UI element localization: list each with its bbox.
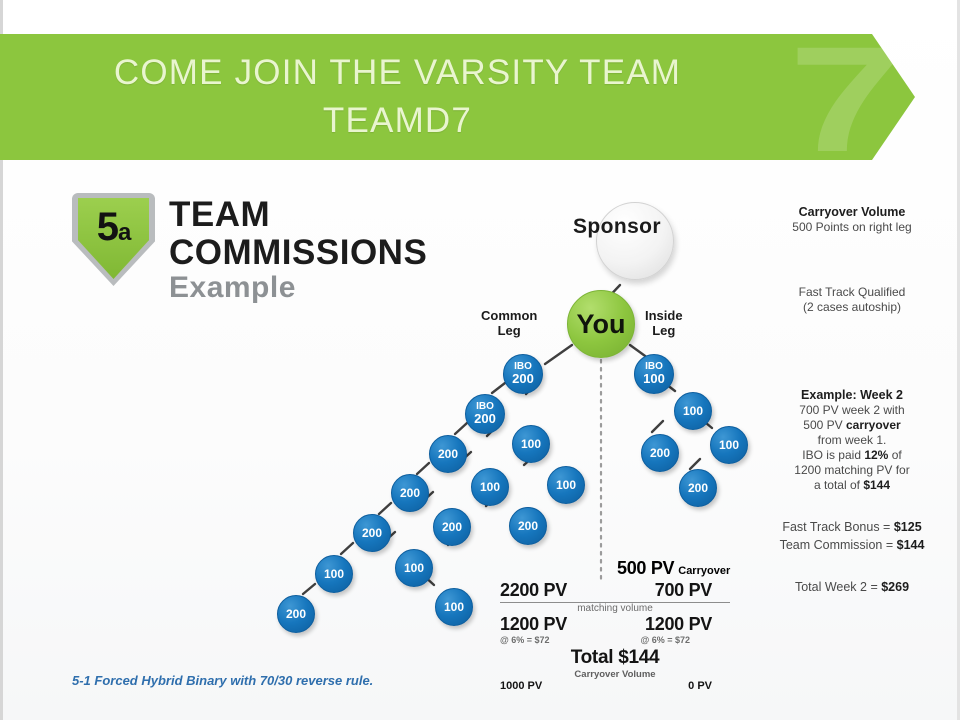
tree-node-left-9[interactable]: 100 bbox=[395, 549, 433, 587]
example-week2-line6: a total of $144 bbox=[752, 478, 952, 493]
tree-node-left-11[interactable]: 200 bbox=[509, 507, 547, 545]
tree-node-left-8[interactable]: 200 bbox=[433, 508, 471, 546]
right-leg-pv: 700 PV bbox=[655, 580, 712, 601]
slide-canvas: 7 COME JOIN THE VARSITY TEAM TEAMD7 5a T… bbox=[0, 0, 960, 720]
calc-carryover-right: 0 PV bbox=[688, 680, 712, 692]
fast-track-bonus-row: Fast Track Bonus = $125 bbox=[752, 518, 952, 536]
total-week2-value: $269 bbox=[881, 580, 909, 594]
tree-node-right-2[interactable]: 100 bbox=[710, 426, 748, 464]
shield-badge-icon: 5a bbox=[72, 193, 155, 286]
fast-track-bonus-value: $125 bbox=[894, 520, 922, 534]
team-commission-value: $144 bbox=[897, 538, 925, 552]
left-rate: @ 6% = $72 bbox=[500, 635, 550, 645]
tree-node-right-0[interactable]: IBO100 bbox=[634, 354, 674, 394]
example-week2-line4-b: 12% bbox=[864, 448, 888, 462]
tree-node-value: 200 bbox=[474, 412, 496, 425]
example-week2-line4: IBO is paid 12% of bbox=[752, 448, 952, 463]
tree-node-right-1[interactable]: 100 bbox=[674, 392, 712, 430]
total-week2-label: Total Week 2 = bbox=[795, 580, 881, 594]
tree-node-left-6[interactable]: 200 bbox=[277, 595, 315, 633]
matching-pv-row: 1200 PV 1200 PV bbox=[500, 614, 730, 635]
header-banner: 7 COME JOIN THE VARSITY TEAM TEAMD7 bbox=[0, 34, 915, 160]
example-week2-line3: from week 1. bbox=[752, 433, 952, 448]
shield-badge-letter: a bbox=[118, 219, 130, 246]
tree-node-value: 200 bbox=[442, 521, 462, 533]
example-week2-line4-a: IBO is paid bbox=[802, 448, 864, 462]
tree-node-right-3[interactable]: 200 bbox=[641, 434, 679, 472]
common-leg-label: Common Leg bbox=[481, 308, 537, 338]
tree-node-value: 200 bbox=[518, 520, 538, 532]
calc-carryover-row: 1000 PV 0 PV bbox=[500, 680, 730, 692]
left-leg-pv: 2200 PV bbox=[500, 580, 567, 601]
tree-node-left-5[interactable]: 100 bbox=[315, 555, 353, 593]
banner-headline-line1: COME JOIN THE VARSITY TEAM bbox=[114, 49, 681, 97]
tree-node-value: 100 bbox=[444, 601, 464, 613]
title-line-commissions: COMMISSIONS bbox=[169, 235, 427, 270]
title-block: 5a TEAM COMMISSIONS Example bbox=[72, 193, 427, 304]
example-week2-line4-c: of bbox=[888, 448, 901, 462]
team-commission-label: Team Commission = bbox=[780, 538, 897, 552]
tree-node-left-12[interactable]: 100 bbox=[547, 466, 585, 504]
tree-node-left-0[interactable]: IBO200 bbox=[503, 354, 543, 394]
tree-node-value: 100 bbox=[556, 479, 576, 491]
calc-total: Total $144 bbox=[500, 647, 730, 669]
title-line-team: TEAM bbox=[169, 197, 427, 232]
node-sponsor[interactable] bbox=[596, 202, 674, 280]
title-line-example: Example bbox=[169, 272, 427, 304]
example-week2-line6-b: $144 bbox=[863, 478, 890, 492]
inside-leg-label-line2: Leg bbox=[645, 323, 683, 338]
inside-leg-label-line1: Inside bbox=[645, 308, 683, 323]
title-text-group: TEAM COMMISSIONS Example bbox=[169, 193, 427, 304]
example-week2-line2: 500 PV carryover bbox=[752, 418, 952, 433]
example-week2-line5: 1200 matching PV for bbox=[752, 463, 952, 478]
example-week2-line2-a: 500 PV bbox=[803, 418, 846, 432]
example-week2-line2-b: carryover bbox=[846, 418, 901, 432]
left-matching-pv: 1200 PV bbox=[500, 614, 567, 635]
matching-volume-note: matching volume bbox=[500, 603, 730, 614]
tree-node-value: 200 bbox=[650, 447, 670, 459]
tree-node-left-1[interactable]: IBO200 bbox=[465, 394, 505, 434]
banner-seven-watermark: 7 bbox=[788, 36, 893, 160]
tree-node-right-4[interactable]: 200 bbox=[679, 469, 717, 507]
node-you[interactable]: You bbox=[567, 290, 635, 358]
inside-leg-label: Inside Leg bbox=[645, 308, 683, 338]
tree-node-left-10[interactable]: 100 bbox=[435, 588, 473, 626]
fast-track-qualified-line2: (2 cases autoship) bbox=[752, 300, 952, 315]
calc-carryover-volume-label: Carryover Volume bbox=[500, 669, 730, 680]
common-leg-label-line1: Common bbox=[481, 308, 537, 323]
tree-node-value: 200 bbox=[512, 372, 534, 385]
total-week2-block: Total Week 2 = $269 bbox=[752, 580, 952, 595]
tree-node-value: 100 bbox=[719, 439, 739, 451]
tree-node-left-13[interactable]: 100 bbox=[512, 425, 550, 463]
footer-note: 5-1 Forced Hybrid Binary with 70/30 reve… bbox=[72, 673, 373, 688]
tree-node-value: 100 bbox=[404, 562, 424, 574]
tree-node-left-4[interactable]: 200 bbox=[353, 514, 391, 552]
example-week2-block: Example: Week 2 700 PV week 2 with 500 P… bbox=[752, 388, 952, 493]
shield-badge-label: 5a bbox=[97, 207, 131, 253]
tree-node-value: 100 bbox=[643, 372, 665, 385]
tree-node-value: 200 bbox=[400, 487, 420, 499]
shield-badge-number: 5 bbox=[97, 205, 118, 249]
tree-node-value: 200 bbox=[438, 448, 458, 460]
example-week2-title: Example: Week 2 bbox=[752, 388, 952, 403]
fast-track-qualified-line1: Fast Track Qualified bbox=[752, 285, 952, 300]
tree-node-value: 200 bbox=[286, 608, 306, 620]
carryover-volume-sub: 500 Points on right leg bbox=[752, 220, 952, 235]
tree-node-value: 200 bbox=[362, 527, 382, 539]
tree-node-value: 200 bbox=[688, 482, 708, 494]
fast-track-qualified-block: Fast Track Qualified (2 cases autoship) bbox=[752, 285, 952, 315]
carryover-volume-block: Carryover Volume 500 Points on right leg bbox=[752, 205, 952, 235]
rate-row: @ 6% = $72 @ 6% = $72 bbox=[500, 635, 730, 645]
tree-node-value: 100 bbox=[480, 481, 500, 493]
team-commission-row: Team Commission = $144 bbox=[752, 536, 952, 554]
bonus-summary-block: Fast Track Bonus = $125 Team Commission … bbox=[752, 518, 952, 554]
sponsor-label: Sponsor bbox=[573, 215, 661, 239]
tree-node-left-7[interactable]: 100 bbox=[471, 468, 509, 506]
tree-node-left-2[interactable]: 200 bbox=[429, 435, 467, 473]
banner-text-group: COME JOIN THE VARSITY TEAM TEAMD7 bbox=[0, 34, 795, 160]
common-leg-label-line2: Leg bbox=[481, 323, 537, 338]
example-week2-line6-a: a total of bbox=[814, 478, 863, 492]
banner-headline-line2: TEAMD7 bbox=[323, 97, 472, 145]
tree-node-value: 100 bbox=[683, 405, 703, 417]
right-matching-pv: 1200 PV bbox=[645, 614, 712, 635]
tree-node-value: 100 bbox=[521, 438, 541, 450]
tree-node-value: 100 bbox=[324, 568, 344, 580]
calc-carryover-left: 1000 PV bbox=[500, 680, 542, 692]
fast-track-bonus-label: Fast Track Bonus = bbox=[782, 520, 894, 534]
carryover-volume-title: Carryover Volume bbox=[752, 205, 952, 220]
pv-row: 2200 PV 700 PV bbox=[500, 580, 730, 601]
commission-calculation-block: 2200 PV 700 PV matching volume 1200 PV 1… bbox=[500, 558, 730, 692]
example-week2-line1: 700 PV week 2 with bbox=[752, 403, 952, 418]
node-you-label: You bbox=[577, 309, 626, 340]
right-rate: @ 6% = $72 bbox=[640, 635, 690, 645]
shield-badge-inner: 5a bbox=[78, 198, 149, 279]
tree-node-left-3[interactable]: 200 bbox=[391, 474, 429, 512]
